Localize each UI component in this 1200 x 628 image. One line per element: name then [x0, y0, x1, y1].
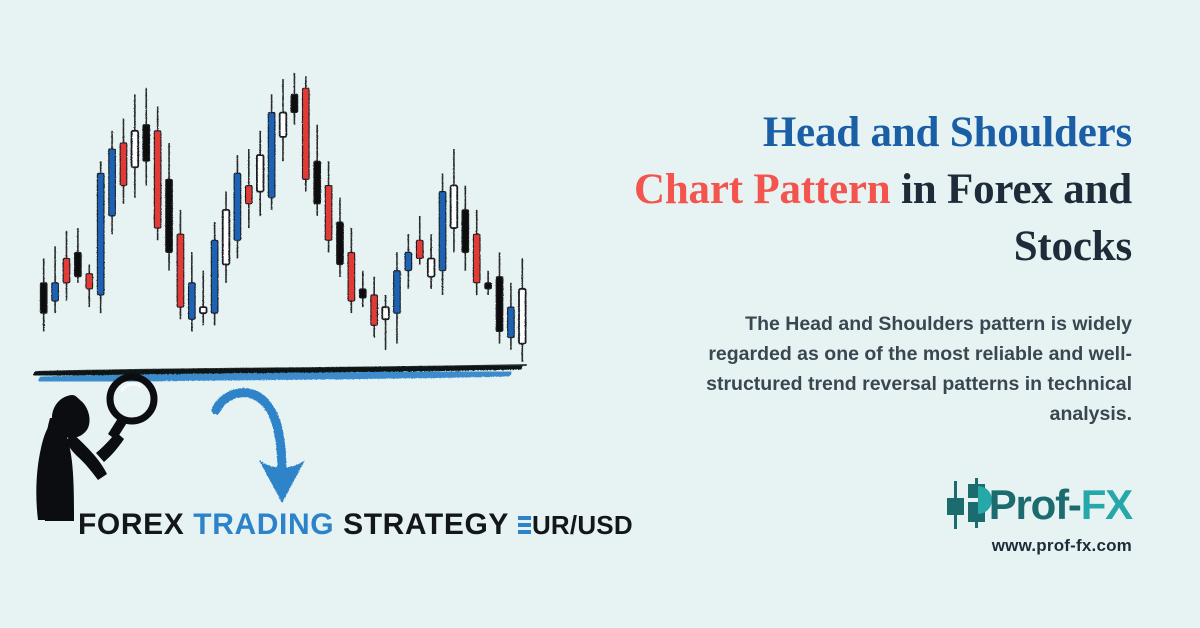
- brand-logo[interactable]: Prof-FX www.prof-fx.com: [937, 478, 1132, 556]
- caption-word-strategy: STRATEGY: [343, 508, 509, 541]
- brand-wordmark: Prof-FX: [989, 484, 1132, 526]
- neckline: [36, 365, 526, 380]
- headline-line-3: Stocks: [1014, 223, 1132, 270]
- brand-word-fx: FX: [1081, 481, 1132, 528]
- illustration-panel: FOREX TRADING STRATEGY UR/USD: [0, 0, 600, 628]
- headline-line-1: Head and Shoulders: [763, 109, 1132, 156]
- headline-line-2-rest: in Forex and: [890, 166, 1132, 213]
- content-panel: Head and Shoulders Chart Pattern in Fore…: [600, 0, 1200, 628]
- brand-word-prof: Prof-: [989, 481, 1081, 528]
- promo-banner: FOREX TRADING STRATEGY UR/USD Head and S…: [0, 0, 1200, 628]
- caption-word-forex: FOREX: [78, 508, 184, 541]
- candlestick-logo-icon: [937, 478, 993, 532]
- breakdown-arrow-icon: [216, 393, 305, 503]
- caption-line: FOREX TRADING STRATEGY UR/USD: [78, 508, 633, 542]
- caption-word-trading: TRADING: [193, 508, 334, 541]
- candlestick-chart-illustration: [28, 62, 558, 562]
- analyst-with-magnifier-icon: [36, 377, 154, 521]
- e-bars-icon: [518, 516, 531, 535]
- description-paragraph: The Head and Shoulders pattern is widely…: [687, 309, 1132, 429]
- candlestick-series: [40, 73, 525, 362]
- page-title: Head and Shoulders Chart Pattern in Fore…: [618, 104, 1132, 275]
- brand-url[interactable]: www.prof-fx.com: [937, 536, 1132, 556]
- headline-accent: Chart Pattern: [634, 166, 891, 213]
